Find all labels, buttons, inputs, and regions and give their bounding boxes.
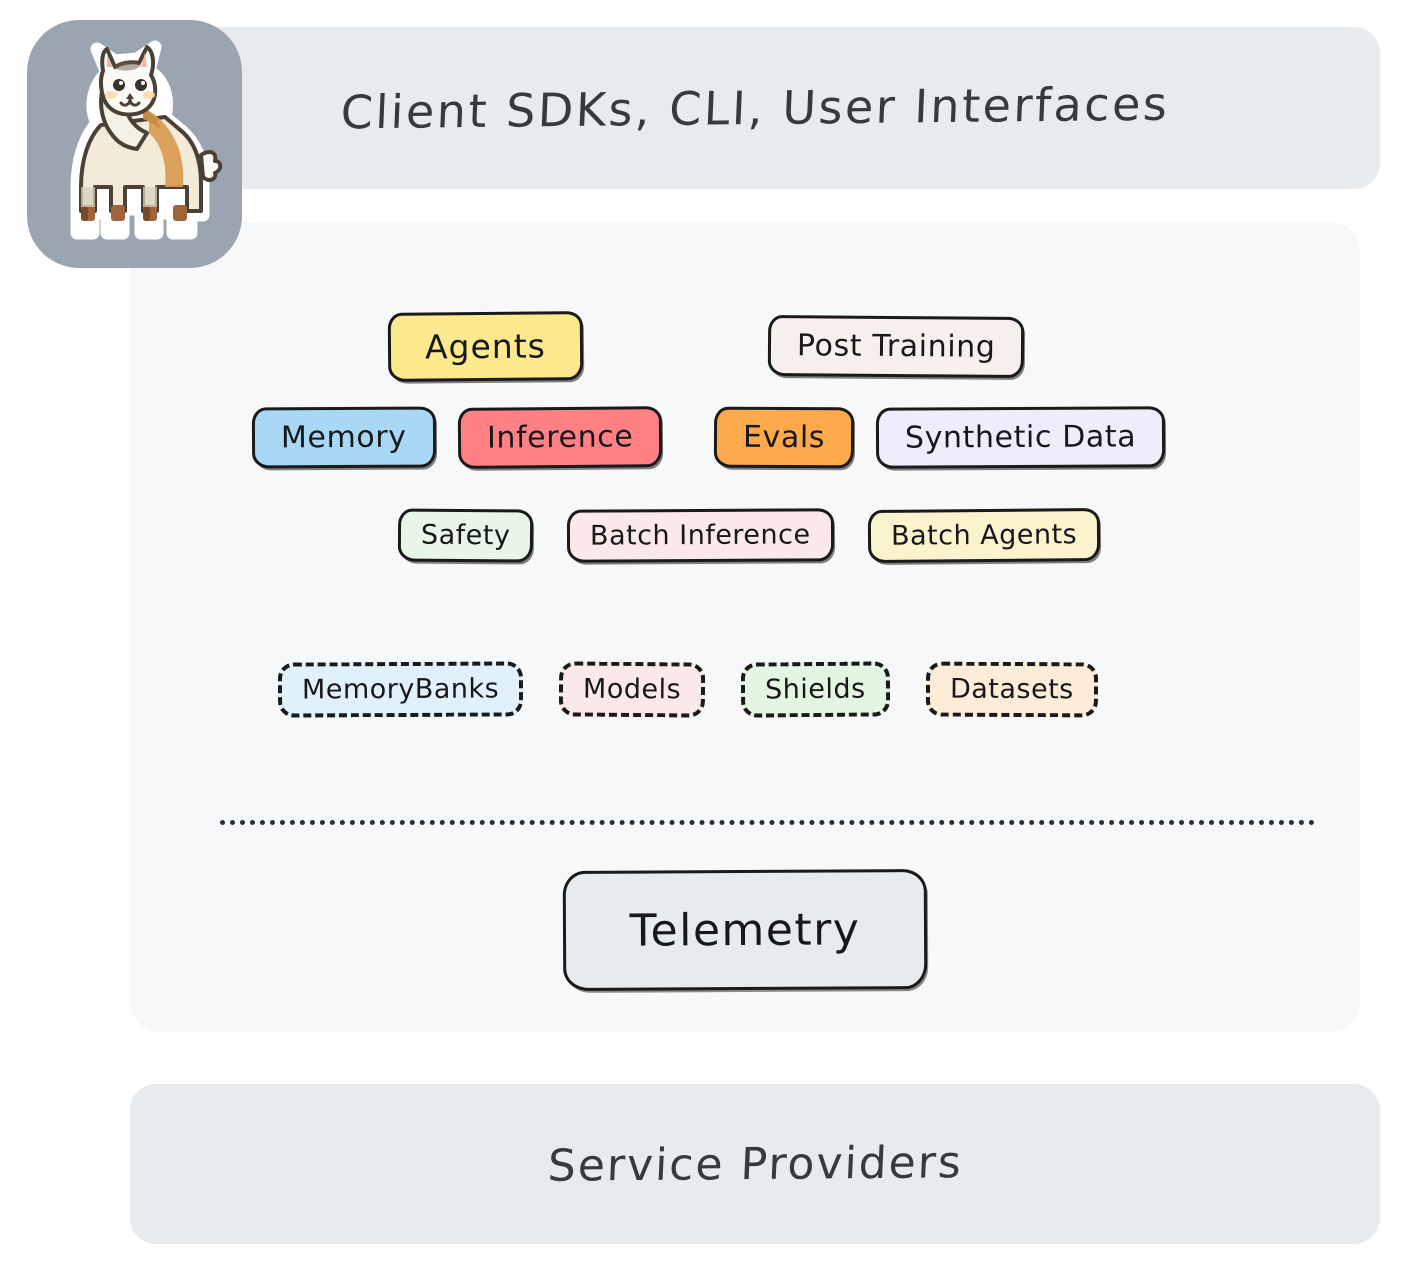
api-row-3: Safety Batch Inference Batch Agents xyxy=(130,509,1410,562)
api-chip-label: Agents xyxy=(425,326,546,366)
client-layer-bar: Client SDKs, CLI, User Interfaces xyxy=(130,27,1380,189)
footer-title: Service Providers xyxy=(546,1137,963,1192)
resource-chip-label: MemoryBanks xyxy=(302,673,499,705)
api-chip-label: Evals xyxy=(743,420,825,455)
llama-logo-badge xyxy=(27,20,242,268)
resource-chip-label: Datasets xyxy=(950,674,1074,706)
service-providers-bar: Service Providers xyxy=(130,1084,1380,1244)
api-chip-memory[interactable]: Memory xyxy=(252,407,436,469)
api-chip-batch-agents[interactable]: Batch Agents xyxy=(868,508,1101,563)
resource-chip-models[interactable]: Models xyxy=(559,661,706,717)
llama-logo-icon xyxy=(45,37,225,252)
resource-chip-shields[interactable]: Shields xyxy=(741,661,890,717)
api-chip-label: Inference xyxy=(486,419,633,455)
api-chip-label: Safety xyxy=(421,520,511,552)
telemetry-box[interactable]: Telemetry xyxy=(563,869,928,991)
api-chip-label: Memory xyxy=(281,420,407,456)
api-chip-synthetic-data[interactable]: Synthetic Data xyxy=(876,406,1166,469)
resource-chip-datasets[interactable]: Datasets xyxy=(926,662,1098,718)
api-chip-batch-inference[interactable]: Batch Inference xyxy=(567,508,834,562)
resource-chip-memorybanks[interactable]: MemoryBanks xyxy=(278,661,523,717)
telemetry-label: Telemetry xyxy=(630,904,861,956)
api-chip-post-training[interactable]: Post Training xyxy=(768,315,1025,378)
api-chip-label: Batch Inference xyxy=(590,519,811,551)
api-chip-agents[interactable]: Agents xyxy=(388,311,583,382)
api-chip-label: Post Training xyxy=(797,328,996,365)
page-title: Client SDKs, CLI, User Interfaces xyxy=(340,77,1171,140)
api-row-1: Agents Post Training xyxy=(130,312,1410,381)
llama-stack-api-panel: Agents Post Training Memory Inference Ev… xyxy=(130,222,1360,1032)
resource-chip-label: Models xyxy=(583,674,681,706)
section-divider xyxy=(220,820,1315,825)
api-chip-label: Batch Agents xyxy=(891,519,1077,552)
resource-chip-label: Shields xyxy=(765,674,866,706)
api-row-2: Memory Inference Evals Synthetic Data xyxy=(130,407,1410,468)
diagram-canvas: Client SDKs, CLI, User Interfaces xyxy=(0,0,1410,1268)
api-chip-inference[interactable]: Inference xyxy=(457,406,662,469)
telemetry-row: Telemetry xyxy=(130,870,1360,990)
api-chip-label: Synthetic Data xyxy=(905,419,1136,455)
api-chip-evals[interactable]: Evals xyxy=(714,407,854,469)
api-chip-safety[interactable]: Safety xyxy=(398,508,534,562)
resource-row: MemoryBanks Models Shields Datasets xyxy=(130,662,1410,717)
